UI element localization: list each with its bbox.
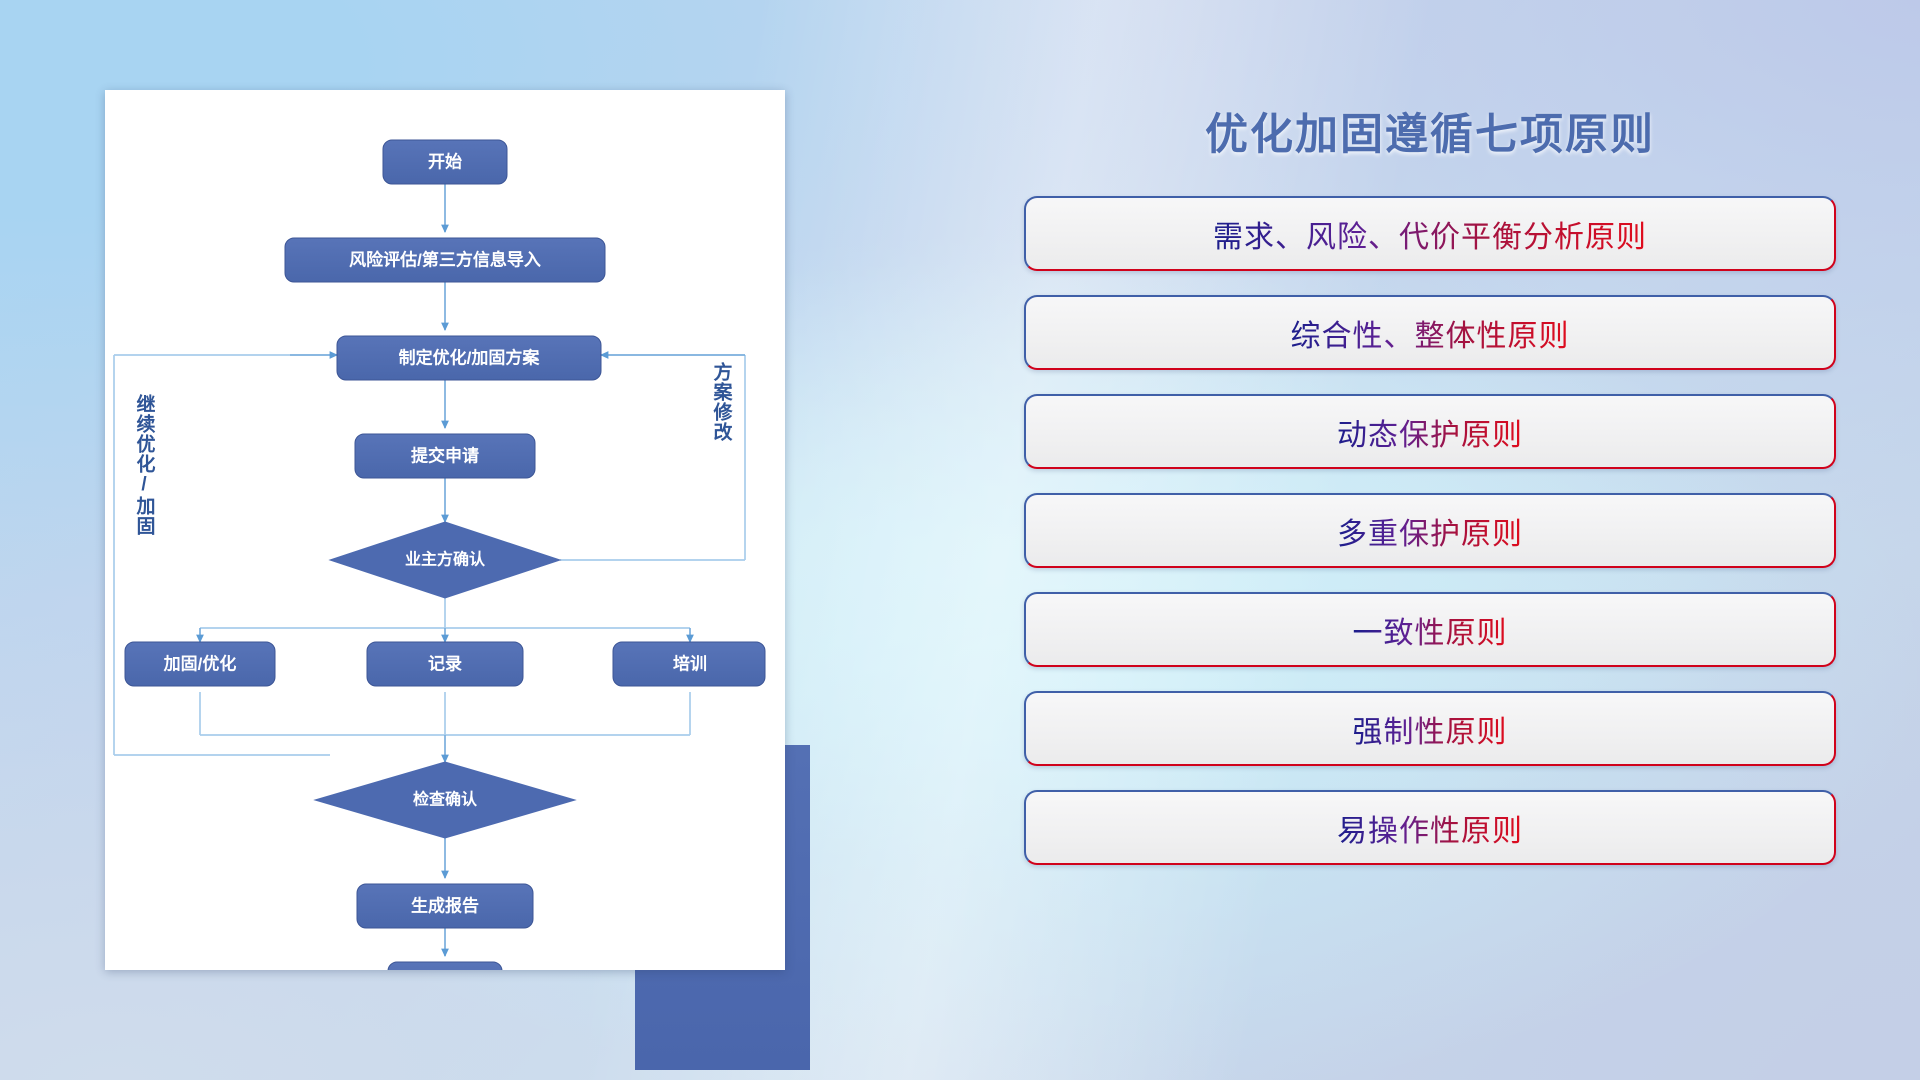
node-end[interactable]: 结束 — [388, 962, 502, 970]
principle-card[interactable]: 动态保护原则 — [1024, 394, 1836, 469]
principles-card-list: 需求、风险、代价平衡分析原则 综合性、整体性原则 动态保护原则 多重保护原则 一… — [1020, 196, 1840, 865]
node-check-confirm[interactable]: 检查确认 — [315, 762, 575, 838]
node-start[interactable]: 开始 — [383, 140, 507, 184]
node-training[interactable]: 培训 — [613, 642, 765, 686]
principle-card[interactable]: 多重保护原则 — [1024, 493, 1836, 568]
principle-card[interactable]: 一致性原则 — [1024, 592, 1836, 667]
node-report-label: 生成报告 — [411, 896, 479, 916]
node-training-label: 培训 — [673, 654, 707, 674]
node-record[interactable]: 记录 — [367, 642, 523, 686]
principle-card[interactable]: 需求、风险、代价平衡分析原则 — [1024, 196, 1836, 271]
edge-label-left: 继续优化/加固 — [134, 393, 157, 536]
flowchart-svg: 开始 风险评估/第三方信息导入 制定优化/加固方案 提交申请 业主方确认 加固/… — [105, 90, 785, 970]
principle-card-label: 动态保护原则 — [1337, 410, 1523, 454]
edge-label-right: 方案修改 — [711, 361, 734, 442]
principle-card[interactable]: 易操作性原则 — [1024, 790, 1836, 865]
node-risk-assessment-label: 风险评估/第三方信息导入 — [349, 250, 541, 270]
node-owner-confirm-label: 业主方确认 — [405, 550, 486, 569]
node-reinforce[interactable]: 加固/优化 — [125, 642, 275, 686]
node-check-confirm-label: 检查确认 — [413, 790, 478, 809]
node-submit-label: 提交申请 — [411, 446, 479, 466]
node-plan-label: 制定优化/加固方案 — [399, 348, 541, 368]
node-record-label: 记录 — [428, 655, 462, 674]
principle-card[interactable]: 综合性、整体性原则 — [1024, 295, 1836, 370]
node-reinforce-label: 加固/优化 — [163, 654, 237, 674]
principles-title: 优化加固遵循七项原则 — [1020, 100, 1840, 162]
principles-panel: 优化加固遵循七项原则 需求、风险、代价平衡分析原则 综合性、整体性原则 动态保护… — [1020, 100, 1840, 1000]
node-report[interactable]: 生成报告 — [357, 884, 533, 928]
node-risk-assessment[interactable]: 风险评估/第三方信息导入 — [285, 238, 605, 282]
principle-card-label: 一致性原则 — [1353, 608, 1508, 652]
node-submit[interactable]: 提交申请 — [355, 434, 535, 478]
node-start-label: 开始 — [428, 152, 462, 172]
flowchart-panel: 开始 风险评估/第三方信息导入 制定优化/加固方案 提交申请 业主方确认 加固/… — [105, 90, 805, 980]
principle-card-label: 综合性、整体性原则 — [1291, 311, 1570, 355]
principle-card-label: 多重保护原则 — [1337, 509, 1523, 553]
principle-card-label: 需求、风险、代价平衡分析原则 — [1213, 212, 1647, 256]
node-plan[interactable]: 制定优化/加固方案 — [337, 336, 601, 380]
principle-card[interactable]: 强制性原则 — [1024, 691, 1836, 766]
principle-card-label: 强制性原则 — [1353, 707, 1508, 751]
node-owner-confirm[interactable]: 业主方确认 — [330, 522, 560, 598]
principle-card-label: 易操作性原则 — [1337, 806, 1523, 850]
